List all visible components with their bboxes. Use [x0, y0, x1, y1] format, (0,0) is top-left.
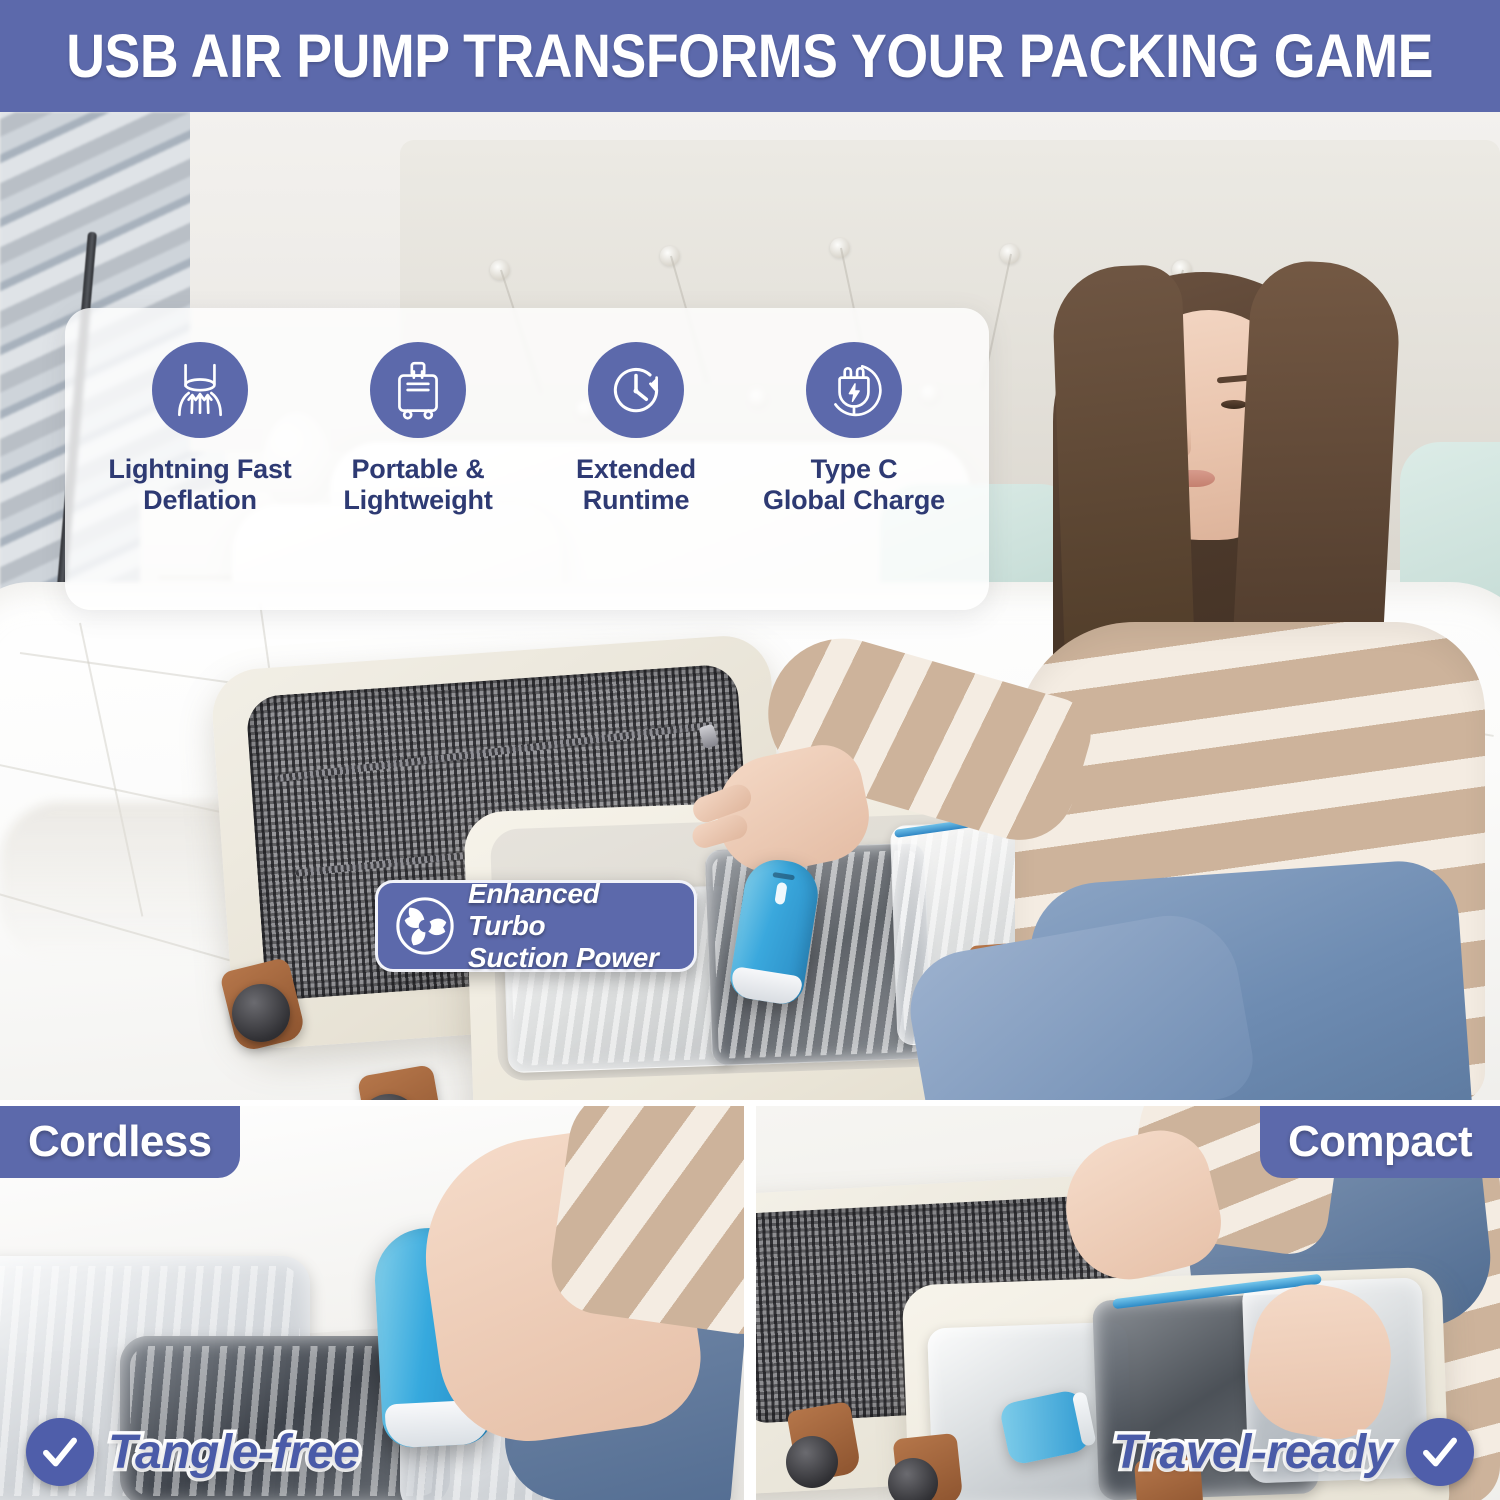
suitcase-wheel-1 — [232, 984, 290, 1042]
page-title: USB AIR PUMP TRANSFORMS YOUR PACKING GAM… — [67, 21, 1434, 91]
header-banner: USB AIR PUMP TRANSFORMS YOUR PACKING GAM… — [0, 0, 1500, 112]
power-plug-bolt-icon — [806, 342, 902, 438]
panel-cordless: Cordless Tangle-free — [0, 1106, 744, 1500]
air-suction-icon — [152, 342, 248, 438]
badge-travel-ready: Travel-ready — [1113, 1418, 1474, 1486]
product-infographic: USB AIR PUMP TRANSFORMS YOUR PACKING GAM… — [0, 0, 1500, 1500]
feature-extended-runtime: Extended Runtime — [529, 342, 744, 516]
checkmark-icon — [1406, 1418, 1474, 1486]
turbine-swirl-icon — [394, 895, 456, 957]
feature-label: Type C Global Charge — [763, 454, 945, 516]
turbo-suction-badge: Enhanced Turbo Suction Power — [375, 880, 697, 972]
badge-label: Travel-ready — [1113, 1425, 1392, 1480]
clock-arrow-icon — [588, 342, 684, 438]
tab-compact: Compact — [1260, 1106, 1500, 1178]
bottom-panels: Cordless Tangle-free — [0, 1106, 1500, 1500]
badge-tangle-free: Tangle-free — [26, 1418, 359, 1486]
feature-label: Lightning Fast Deflation — [108, 454, 291, 516]
feature-panel: Lightning Fast Deflation — [65, 308, 989, 610]
feature-lightning-fast-deflation: Lightning Fast Deflation — [93, 342, 308, 516]
tab-label: Cordless — [28, 1117, 212, 1167]
turbo-badge-text: Enhanced Turbo Suction Power — [468, 878, 678, 974]
feature-type-c-global-charge: Type C Global Charge — [747, 342, 962, 516]
feature-label: Extended Runtime — [576, 454, 696, 516]
checkmark-icon — [26, 1418, 94, 1486]
panel-compact: Compact Travel-ready — [756, 1106, 1500, 1500]
suitcase-wheel-1 — [786, 1436, 838, 1488]
feature-portable-lightweight: Portable & Lightweight — [311, 342, 526, 516]
person-on-bed — [975, 232, 1500, 1100]
hero-photo: Lightning Fast Deflation — [0, 112, 1500, 1100]
tab-cordless: Cordless — [0, 1106, 240, 1178]
feature-label: Portable & Lightweight — [343, 454, 492, 516]
rolling-suitcase-icon — [370, 342, 466, 438]
badge-label: Tangle-free — [108, 1425, 359, 1480]
suitcase-wheel-2 — [888, 1458, 938, 1500]
tab-label: Compact — [1288, 1117, 1472, 1167]
